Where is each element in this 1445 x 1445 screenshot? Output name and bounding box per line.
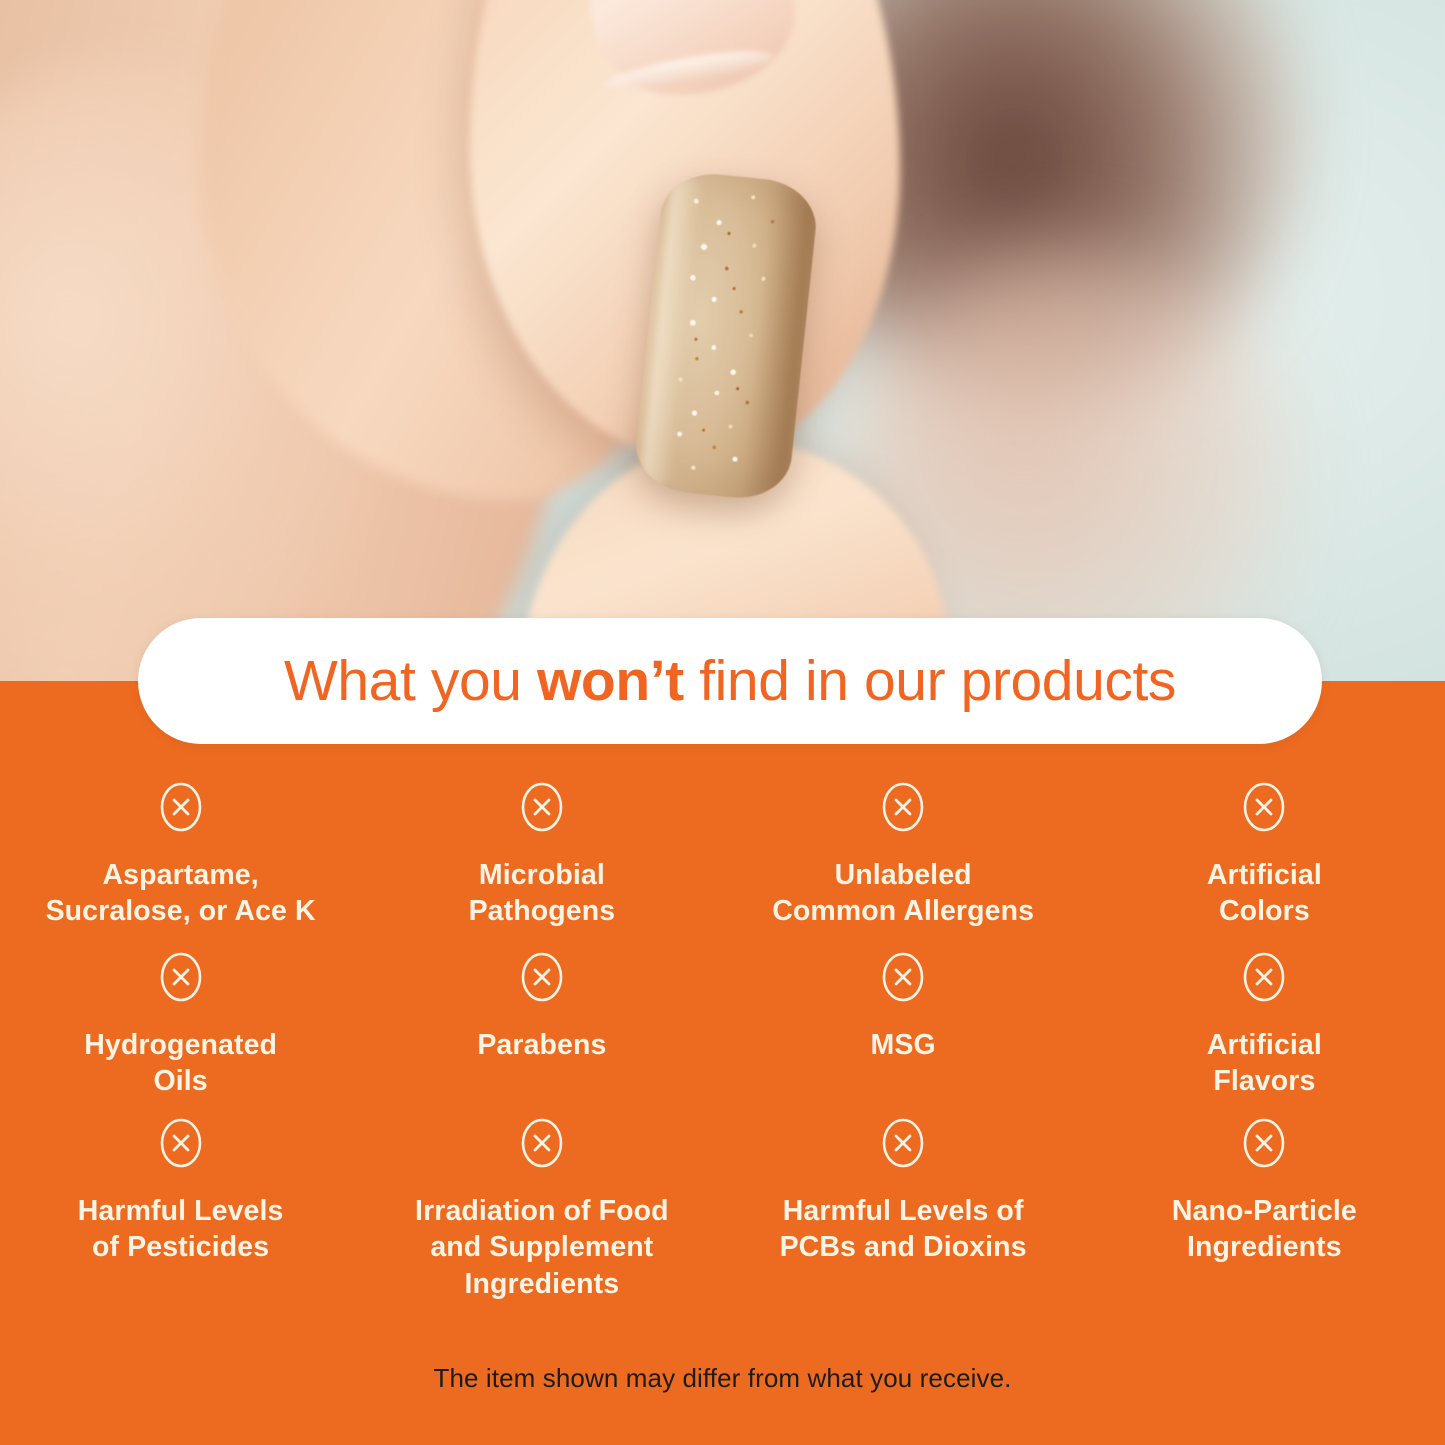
list-item-label: Hydrogenated Oils (84, 1027, 277, 1100)
exclusions-grid: Aspartame, Sucralose, or Ace K Microbial… (0, 781, 1445, 1317)
circle-x-icon (520, 781, 564, 833)
tablet-icon (632, 169, 821, 504)
list-item-label: Microbial Pathogens (469, 857, 616, 930)
circle-x-icon (881, 951, 925, 1003)
circle-x-icon (1242, 1117, 1286, 1169)
title-emphasis: won’t (537, 649, 684, 713)
list-item: Microbial Pathogens (361, 781, 722, 951)
list-item: Nano-Particle Ingredients (1084, 1117, 1445, 1317)
disclaimer-text: The item shown may differ from what you … (0, 1363, 1445, 1394)
list-item-label: Irradiation of Food and Supplement Ingre… (415, 1193, 669, 1302)
circle-x-icon (881, 781, 925, 833)
circle-x-icon (159, 781, 203, 833)
list-item: Irradiation of Food and Supplement Ingre… (361, 1117, 722, 1317)
product-infographic: What you won’t find in our products Aspa… (0, 0, 1445, 1445)
product-photo (0, 0, 1445, 690)
list-item: Aspartame, Sucralose, or Ace K (0, 781, 361, 951)
circle-x-icon (1242, 951, 1286, 1003)
circle-x-icon (1242, 781, 1286, 833)
headline-banner: What you won’t find in our products (138, 618, 1322, 744)
list-item-label: Aspartame, Sucralose, or Ace K (46, 857, 316, 930)
list-item-label: Artificial Colors (1207, 857, 1322, 930)
circle-x-icon (159, 951, 203, 1003)
list-item-label: Parabens (477, 1027, 606, 1063)
list-item-label: Harmful Levels of Pesticides (78, 1193, 284, 1266)
list-item-label: Harmful Levels of PCBs and Dioxins (780, 1193, 1027, 1266)
list-item: Harmful Levels of Pesticides (0, 1117, 361, 1317)
list-item: Hydrogenated Oils (0, 951, 361, 1117)
list-item-label: Nano-Particle Ingredients (1172, 1193, 1357, 1266)
list-item: MSG (723, 951, 1084, 1117)
list-item: Harmful Levels of PCBs and Dioxins (723, 1117, 1084, 1317)
circle-x-icon (520, 1117, 564, 1169)
page-title: What you won’t find in our products (284, 653, 1176, 710)
title-part-1: What you (284, 649, 537, 713)
list-item: Parabens (361, 951, 722, 1117)
list-item-label: Unlabeled Common Allergens (772, 857, 1034, 930)
circle-x-icon (881, 1117, 925, 1169)
list-item-label: Artificial Flavors (1207, 1027, 1322, 1100)
list-item: Unlabeled Common Allergens (723, 781, 1084, 951)
list-item-label: MSG (871, 1027, 936, 1063)
circle-x-icon (159, 1117, 203, 1169)
circle-x-icon (520, 951, 564, 1003)
list-item: Artificial Flavors (1084, 951, 1445, 1117)
title-part-2: find in our products (684, 649, 1176, 713)
list-item: Artificial Colors (1084, 781, 1445, 951)
